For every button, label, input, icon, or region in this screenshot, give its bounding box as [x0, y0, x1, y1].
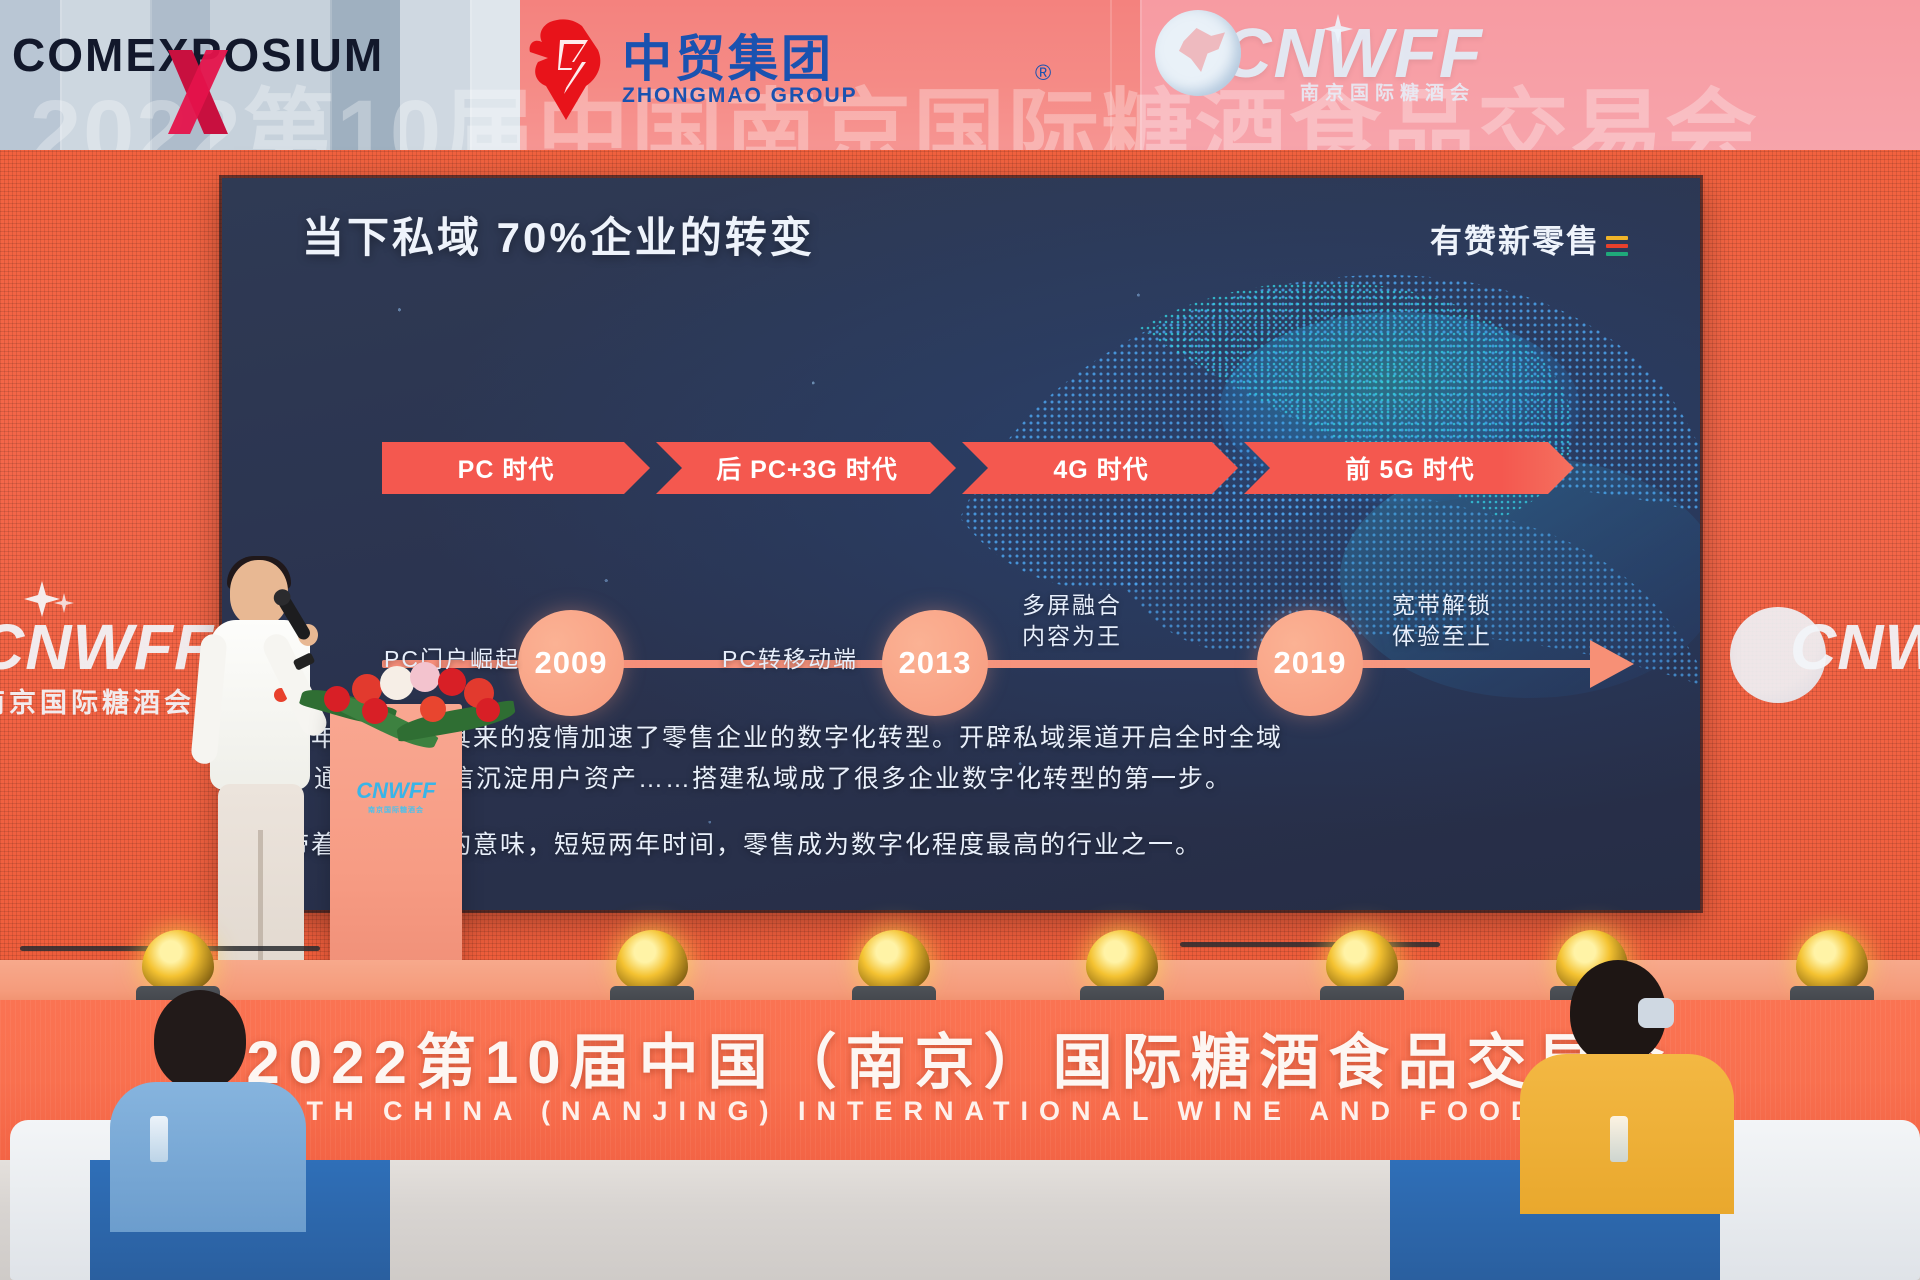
- audience-member-right: [1520, 960, 1730, 1210]
- globe-icon: [1155, 10, 1241, 96]
- led-wall-logo-left: CNWFF 南京国际糖酒会: [0, 615, 218, 720]
- led-cnwff-wordmark: CNWFF: [1790, 615, 1920, 679]
- timeline-era-3: 前 5G 时代: [1244, 442, 1574, 494]
- timeline-era-label: 后 PC+3G 时代: [716, 450, 898, 486]
- podium-logo: CNWFF 南京国际糖酒会: [356, 778, 435, 815]
- zhongmao-english-name: ZHONGMAO GROUP: [622, 84, 858, 108]
- timeline-year-2019: 2019: [1257, 610, 1363, 716]
- timeline-year-2009: 2009: [518, 610, 624, 716]
- registered-trademark-symbol: ®: [1035, 60, 1051, 86]
- timeline-era-0: PC 时代: [382, 442, 650, 494]
- slide-title: 当下私域 70%企业的转变: [302, 204, 815, 265]
- conference-stage-scene: 2022第10届中国南京国际糖酒食品交易会 CNWFF 南京国际糖酒会 COME…: [0, 0, 1920, 1280]
- timeline-caption-1: PC转移动端: [722, 644, 858, 675]
- timeline-era-1: 后 PC+3G 时代: [656, 442, 956, 494]
- timeline-year-2013: 2013: [882, 610, 988, 716]
- led-cnwff-wordmark: CNWFF: [0, 615, 218, 679]
- podium-logo-subtitle: 南京国际糖酒会: [356, 805, 435, 815]
- led-cnwff-subtitle: 南京国际糖酒会: [0, 681, 218, 720]
- sparkle-icon: [1323, 14, 1353, 44]
- timeline-arrow-head: [1590, 640, 1634, 688]
- zhongmao-dragon-icon: [520, 16, 612, 126]
- podium-logo-wordmark: CNWFF: [356, 778, 435, 804]
- audience-member-left: [110, 990, 300, 1220]
- water-bottle: [1610, 1116, 1628, 1162]
- led-wall-logo-right: CNWFF: [1790, 615, 1920, 679]
- fair-title-english: 10TH CHINA (NANJING) INTERNATIONAL WINE …: [255, 1096, 1666, 1127]
- timeline-caption-3: 宽带解锁 体验至上: [1392, 590, 1492, 652]
- slide-body-line-1: 通过企业微信沉淀用户资产……搭建私域成了很多企业数字化转型的第一步。: [284, 759, 1644, 800]
- youzan-wordmark: 有赞新零售: [1430, 216, 1600, 262]
- timeline-era-label: PC 时代: [458, 450, 555, 486]
- youzan-bars-icon: [1606, 236, 1628, 262]
- comexposium-x-icon: [162, 46, 234, 138]
- floral-arrangement: [300, 640, 510, 750]
- timeline-era-label: 4G 时代: [1053, 450, 1148, 486]
- slide-body-line-2: 带着一些被迫的意味，短短两年时间，零售成为数字化程度最高的行业之一。: [284, 825, 1644, 866]
- water-bottle: [150, 1116, 168, 1162]
- zhongmao-group-logo: 中贸集团 ZHONGMAO GROUP: [520, 16, 858, 126]
- timeline-caption-2: 多屏融合 内容为王: [1022, 590, 1122, 652]
- comexposium-logo: COMEXPOSIUM: [12, 28, 384, 82]
- youzan-brand-logo: 有赞新零售: [1430, 216, 1628, 262]
- cnwff-wall-subtitle: 南京国际糖酒会: [1300, 78, 1475, 105]
- timeline-era-2: 4G 时代: [962, 442, 1238, 494]
- fair-title-chinese: 2022第10届中国（南京）国际糖酒食品交易会: [246, 1014, 1673, 1101]
- presenter-legs: [218, 784, 304, 970]
- face-mask: [1638, 998, 1674, 1028]
- timeline-era-chevrons: PC 时代 后 PC+3G 时代 4G 时代 前 5G 时代: [382, 442, 1580, 494]
- presenter-figure: [196, 560, 326, 980]
- zhongmao-chinese-name: 中贸集团: [622, 34, 858, 84]
- timeline-era-label: 前 5G 时代: [1345, 450, 1474, 486]
- slide-body-spacer: [284, 799, 1644, 825]
